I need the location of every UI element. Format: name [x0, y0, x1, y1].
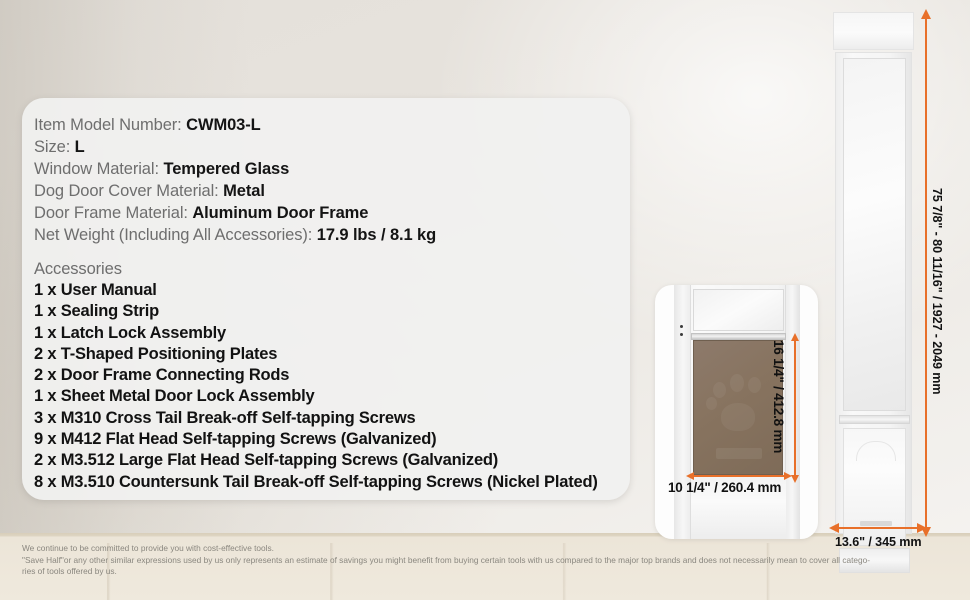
accessories-list: 1 x User Manual1 x Sealing Strip1 x Latc…	[34, 280, 630, 493]
spec-row: Size: L	[34, 136, 630, 158]
panel-body	[835, 52, 912, 534]
paw-print-icon	[713, 382, 726, 398]
patio-panel-illustration	[833, 12, 914, 534]
panel-flap-arch	[856, 441, 896, 461]
accessory-item: 9 x M412 Flat Head Self-tapping Screws (…	[34, 429, 630, 450]
spec-value: 17.9 lbs / 8.1 kg	[317, 226, 436, 244]
paw-print-icon	[748, 377, 761, 393]
accessory-item: 2 x T-Shaped Positioning Plates	[34, 344, 630, 365]
dog-door-closeup-card	[655, 285, 818, 539]
spec-row: Dog Door Cover Material: Metal	[34, 180, 630, 202]
spec-label: Dog Door Cover Material:	[34, 182, 219, 200]
spec-label: Net Weight (Including All Accessories):	[34, 226, 312, 244]
closeup-upper-glass	[693, 289, 784, 331]
product-infographic: Item Model Number: CWM03-LSize: LWindow …	[0, 0, 970, 600]
spec-label: Window Material:	[34, 160, 159, 178]
spec-row: Window Material: Tempered Glass	[34, 158, 630, 180]
spec-label: Item Model Number:	[34, 116, 182, 134]
panel-glass-pane	[843, 58, 906, 411]
spec-value: Metal	[223, 182, 265, 200]
spec-label: Door Frame Material:	[34, 204, 188, 222]
accessory-item: 1 x User Manual	[34, 280, 630, 301]
accessories-heading: Accessories	[34, 258, 630, 280]
spec-label: Size:	[34, 138, 70, 156]
closeup-height-arrow	[794, 340, 796, 476]
spec-row: Door Frame Material: Aluminum Door Frame	[34, 202, 630, 224]
spec-value: L	[75, 138, 85, 156]
paw-print-icon	[721, 403, 755, 431]
accessory-item: 1 x Sheet Metal Door Lock Assembly	[34, 386, 630, 407]
spec-value: Aluminum Door Frame	[192, 204, 368, 222]
accessory-item: 8 x M3.510 Countersunk Tail Break-off Se…	[34, 472, 630, 493]
spec-row: Net Weight (Including All Accessories): …	[34, 224, 630, 246]
closeup-top-rail	[691, 333, 786, 340]
spec-row: Item Model Number: CWM03-L	[34, 114, 630, 136]
panel-height-label: 75 7/8" - 80 11/16" / 1927 - 2049 mm	[930, 188, 944, 395]
accessory-item: 3 x M310 Cross Tail Break-off Self-tappi…	[34, 408, 630, 429]
flap-brand-badge	[716, 448, 762, 459]
disclaimer-line: "Save Half"or any other similar expressi…	[22, 555, 948, 567]
dog-door-flap	[693, 340, 783, 475]
disclaimer: We continue to be committed to provide y…	[22, 543, 948, 578]
panel-mid-rail	[839, 415, 910, 424]
paw-print-icon	[706, 397, 717, 410]
specifications-list: Item Model Number: CWM03-LSize: LWindow …	[34, 114, 630, 246]
accessory-item: 2 x Door Frame Connecting Rods	[34, 365, 630, 386]
closeup-left-stile	[674, 285, 691, 539]
specifications-card: Item Model Number: CWM03-LSize: LWindow …	[22, 98, 630, 500]
accessory-item: 1 x Sealing Strip	[34, 301, 630, 322]
panel-brand-mark	[860, 521, 892, 526]
panel-header-block	[833, 12, 914, 50]
disclaimer-line: ries of tools offered by us.	[22, 566, 948, 578]
paw-print-icon	[730, 374, 744, 392]
closeup-width-label: 10 1/4" / 260.4 mm	[668, 480, 781, 495]
panel-width-arrow	[838, 527, 918, 529]
spec-value: Tempered Glass	[163, 160, 289, 178]
closeup-right-stile	[785, 285, 800, 539]
disclaimer-line: We continue to be committed to provide y…	[22, 543, 948, 555]
accessory-item: 2 x M3.512 Large Flat Head Self-tapping …	[34, 450, 630, 471]
closeup-height-label: 16 1/4" / 412.8 mm	[771, 340, 786, 453]
closeup-width-arrow	[693, 475, 785, 477]
accessory-item: 1 x Latch Lock Assembly	[34, 323, 630, 344]
spec-value: CWM03-L	[186, 116, 260, 134]
panel-height-arrow	[925, 18, 927, 528]
